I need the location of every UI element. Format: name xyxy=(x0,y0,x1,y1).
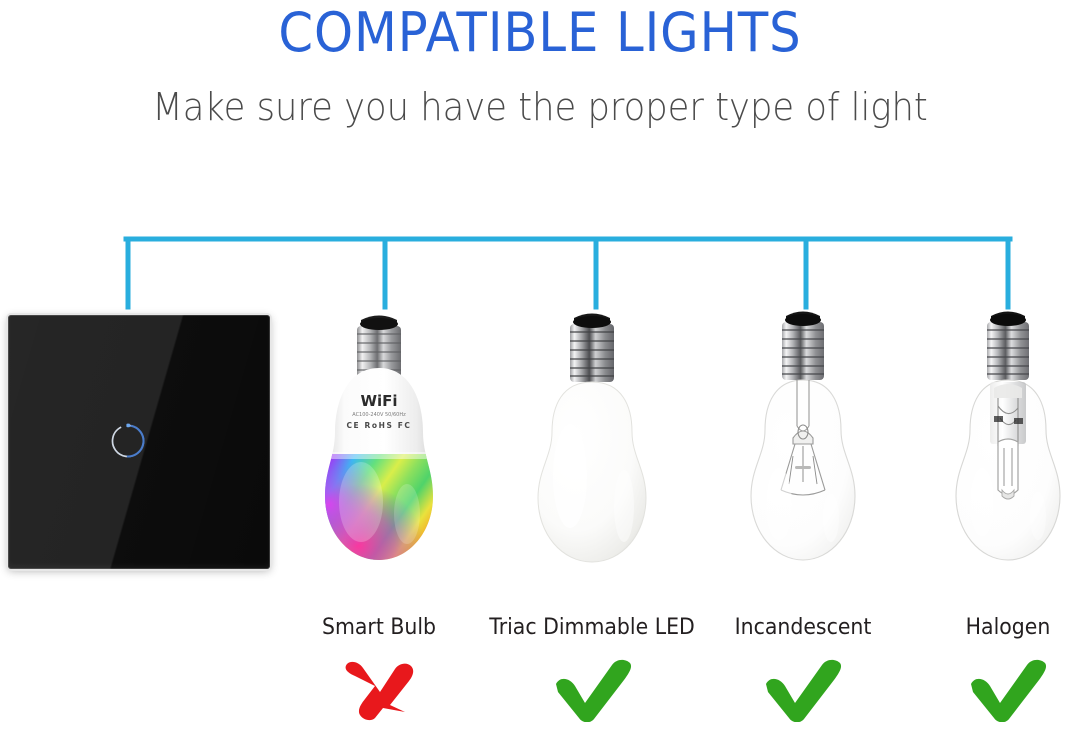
svg-text:CE RoHS FC: CE RoHS FC xyxy=(346,421,411,430)
label-halogen: Halogen xyxy=(901,614,1080,642)
svg-text:WiFi: WiFi xyxy=(360,392,397,410)
product-smart-bulb: WiFi AC100-240V 50/60Hz CE RoHS FC xyxy=(274,306,484,588)
triac-dimmable-led-image xyxy=(487,306,697,588)
cross-icon-smart-bulb xyxy=(335,658,425,722)
touch-led-ring-icon[interactable] xyxy=(108,421,148,461)
smart-bulb-image: WiFi AC100-240V 50/60Hz CE RoHS FC xyxy=(274,306,484,588)
product-incandescent xyxy=(698,306,908,588)
label-triac-dimmable-led: Triac Dimmable LED xyxy=(485,614,699,642)
check-icon-halogen xyxy=(965,658,1055,722)
product-triac-dimmable-led xyxy=(487,306,697,588)
check-icon-incandescent xyxy=(760,658,850,722)
label-smart-bulb: Smart Bulb xyxy=(272,614,486,642)
halogen-image xyxy=(903,306,1080,588)
label-incandescent: Incandescent xyxy=(696,614,910,642)
svg-text:AC100-240V 50/60Hz: AC100-240V 50/60Hz xyxy=(352,412,406,418)
check-icon-triac-dimmable-led xyxy=(550,658,640,722)
page-title: COMPATIBLE LIGHTS xyxy=(43,2,1037,64)
product-halogen xyxy=(903,306,1080,588)
infographic-root: COMPATIBLE LIGHTS Make sure you have the… xyxy=(0,0,1080,732)
page-subtitle: Make sure you have the proper type of li… xyxy=(38,84,1042,130)
incandescent-image xyxy=(698,306,908,588)
